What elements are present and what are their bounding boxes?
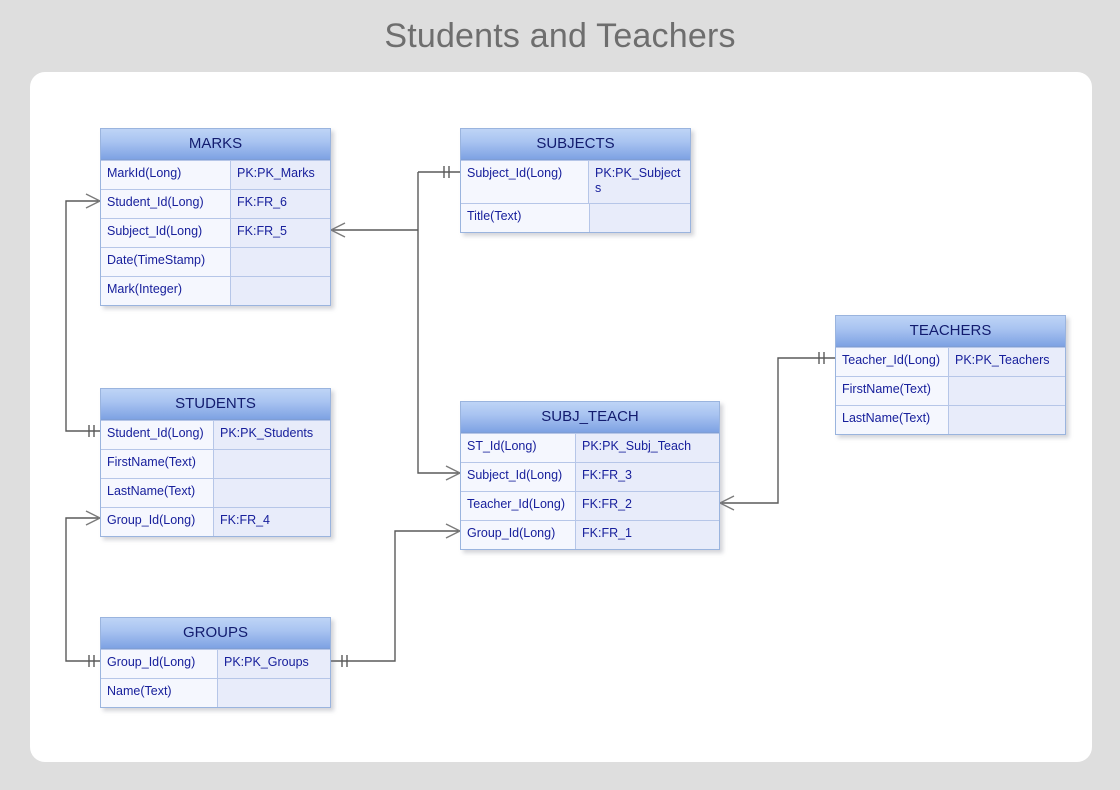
field-key: FK:FR_5 [231, 219, 330, 247]
entity-field-row[interactable]: Name(Text) [101, 678, 330, 707]
field-name: Name(Text) [101, 679, 218, 707]
field-key: PK:PK_Subj_Teach [576, 434, 719, 462]
field-name: Subject_Id(Long) [101, 219, 231, 247]
field-key: PK:PK_Subjects [589, 161, 690, 203]
field-key [218, 679, 330, 707]
entity-field-row[interactable]: Student_Id(Long) FK:FR_6 [101, 189, 330, 218]
entity-field-row[interactable]: Mark(Integer) [101, 276, 330, 305]
field-name: Teacher_Id(Long) [836, 348, 949, 376]
field-key: FK:FR_1 [576, 521, 719, 549]
entity-field-row[interactable]: MarkId(Long) PK:PK_Marks [101, 160, 330, 189]
entity-title: MARKS [101, 129, 330, 160]
field-name: Mark(Integer) [101, 277, 231, 305]
field-name: Subject_Id(Long) [461, 161, 589, 203]
field-key: FK:FR_6 [231, 190, 330, 218]
entity-field-row[interactable]: ST_Id(Long) PK:PK_Subj_Teach [461, 433, 719, 462]
entity-field-row[interactable]: Subject_Id(Long) PK:PK_Subjects [461, 160, 690, 203]
entity-field-row[interactable]: FirstName(Text) [101, 449, 330, 478]
entity-table-subjects[interactable]: SUBJECTS Subject_Id(Long) PK:PK_Subjects… [460, 128, 691, 233]
entity-field-row[interactable]: Teacher_Id(Long) PK:PK_Teachers [836, 347, 1065, 376]
entity-field-row[interactable]: LastName(Text) [836, 405, 1065, 434]
field-name: LastName(Text) [836, 406, 949, 434]
entity-table-groups[interactable]: GROUPS Group_Id(Long) PK:PK_Groups Name(… [100, 617, 331, 708]
field-key [231, 277, 330, 305]
field-key [949, 406, 1065, 434]
field-key: FK:FR_3 [576, 463, 719, 491]
entity-table-subj-teach[interactable]: SUBJ_TEACH ST_Id(Long) PK:PK_Subj_Teach … [460, 401, 720, 550]
entity-field-row[interactable]: Group_Id(Long) PK:PK_Groups [101, 649, 330, 678]
field-name: FirstName(Text) [101, 450, 214, 478]
field-key [231, 248, 330, 276]
entity-title: GROUPS [101, 618, 330, 649]
field-name: Teacher_Id(Long) [461, 492, 576, 520]
entity-field-row[interactable]: Subject_Id(Long) FK:FR_3 [461, 462, 719, 491]
field-name: FirstName(Text) [836, 377, 949, 405]
field-key: FK:FR_4 [214, 508, 330, 536]
entity-field-row[interactable]: Group_Id(Long) FK:FR_1 [461, 520, 719, 549]
entity-title: STUDENTS [101, 389, 330, 420]
entity-field-row[interactable]: Date(TimeStamp) [101, 247, 330, 276]
field-key: PK:PK_Students [214, 421, 330, 449]
field-name: Group_Id(Long) [101, 508, 214, 536]
entity-table-marks[interactable]: MARKS MarkId(Long) PK:PK_Marks Student_I… [100, 128, 331, 306]
field-key [949, 377, 1065, 405]
field-key: PK:PK_Teachers [949, 348, 1065, 376]
entity-field-row[interactable]: Group_Id(Long) FK:FR_4 [101, 507, 330, 536]
field-name: Subject_Id(Long) [461, 463, 576, 491]
field-name: ST_Id(Long) [461, 434, 576, 462]
entity-title: SUBJ_TEACH [461, 402, 719, 433]
field-name: Student_Id(Long) [101, 190, 231, 218]
field-name: Date(TimeStamp) [101, 248, 231, 276]
entity-field-row[interactable]: Title(Text) [461, 203, 690, 232]
field-name: Student_Id(Long) [101, 421, 214, 449]
entity-table-teachers[interactable]: TEACHERS Teacher_Id(Long) PK:PK_Teachers… [835, 315, 1066, 435]
entity-title: SUBJECTS [461, 129, 690, 160]
entity-table-students[interactable]: STUDENTS Student_Id(Long) PK:PK_Students… [100, 388, 331, 537]
entity-field-row[interactable]: LastName(Text) [101, 478, 330, 507]
entity-title: TEACHERS [836, 316, 1065, 347]
entity-field-row[interactable]: Student_Id(Long) PK:PK_Students [101, 420, 330, 449]
field-name: Group_Id(Long) [101, 650, 218, 678]
field-name: LastName(Text) [101, 479, 214, 507]
field-key [214, 479, 330, 507]
field-name: MarkId(Long) [101, 161, 231, 189]
field-key: PK:PK_Marks [231, 161, 330, 189]
entity-field-row[interactable]: FirstName(Text) [836, 376, 1065, 405]
field-key [590, 204, 690, 232]
page-title: Students and Teachers [0, 14, 1120, 58]
field-name: Title(Text) [461, 204, 590, 232]
field-name: Group_Id(Long) [461, 521, 576, 549]
field-key: PK:PK_Groups [218, 650, 330, 678]
field-key: FK:FR_2 [576, 492, 719, 520]
entity-field-row[interactable]: Teacher_Id(Long) FK:FR_2 [461, 491, 719, 520]
entity-field-row[interactable]: Subject_Id(Long) FK:FR_5 [101, 218, 330, 247]
field-key [214, 450, 330, 478]
